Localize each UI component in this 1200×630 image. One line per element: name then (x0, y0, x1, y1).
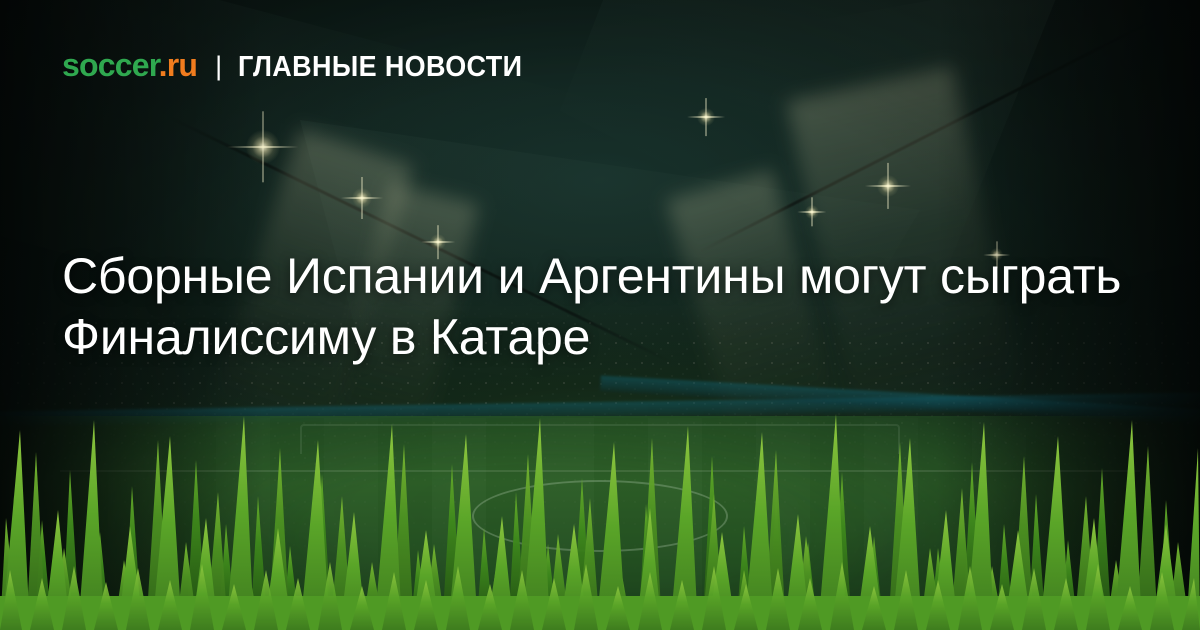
header-bar: soccer.ru | ГЛАВНЫЕ НОВОСТИ (62, 49, 544, 82)
grass-foreground (0, 400, 1200, 630)
grass-illustration (0, 400, 1200, 630)
section-kicker: ГЛАВНЫЕ НОВОСТИ (238, 53, 522, 82)
article-headline: Сборные Испании и Аргентины могут сыграт… (62, 246, 1152, 368)
share-card: soccer.ru | ГЛАВНЫЕ НОВОСТИ Сборные Испа… (0, 0, 1200, 630)
logo-domain-text: .ru (159, 47, 198, 83)
logo-name-text: soccer (62, 47, 159, 83)
header-separator: | (215, 53, 222, 80)
site-logo[interactable]: soccer.ru (62, 49, 197, 81)
